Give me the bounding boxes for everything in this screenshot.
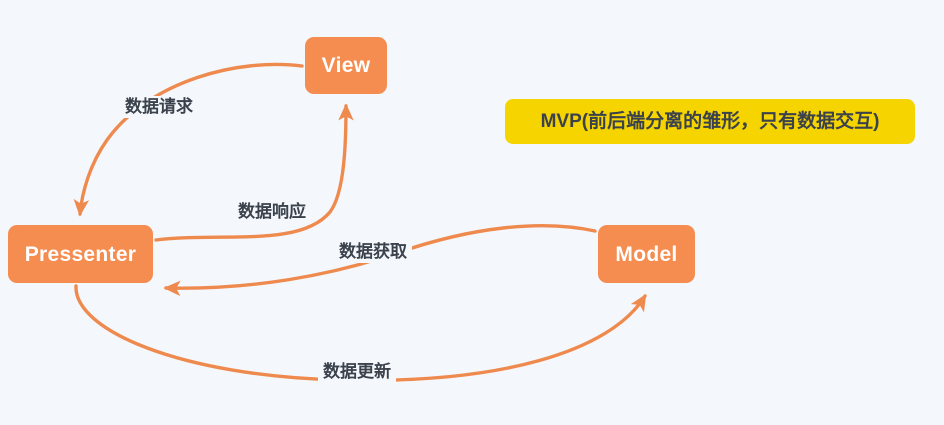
node-view[interactable]: View xyxy=(305,37,387,94)
edge-label-request: 数据请求 xyxy=(120,96,198,118)
node-pressenter-label: Pressenter xyxy=(25,244,137,265)
callout-mvp-text: MVP(前后端分离的雏形，只有数据交互) xyxy=(541,112,880,131)
edge-label-update: 数据更新 xyxy=(318,361,396,383)
node-pressenter[interactable]: Pressenter xyxy=(8,225,153,283)
edge-path-request xyxy=(80,64,302,214)
node-model[interactable]: Model xyxy=(598,225,695,283)
callout-mvp: MVP(前后端分离的雏形，只有数据交互) xyxy=(505,99,915,144)
edge-label-response: 数据响应 xyxy=(233,201,311,223)
node-view-label: View xyxy=(322,55,371,76)
diagram-canvas: View Pressenter Model MVP(前后端分离的雏形，只有数据交… xyxy=(0,0,944,425)
arrow-layer xyxy=(0,0,944,425)
node-model-label: Model xyxy=(615,244,677,265)
edge-label-fetch: 数据获取 xyxy=(334,241,412,263)
